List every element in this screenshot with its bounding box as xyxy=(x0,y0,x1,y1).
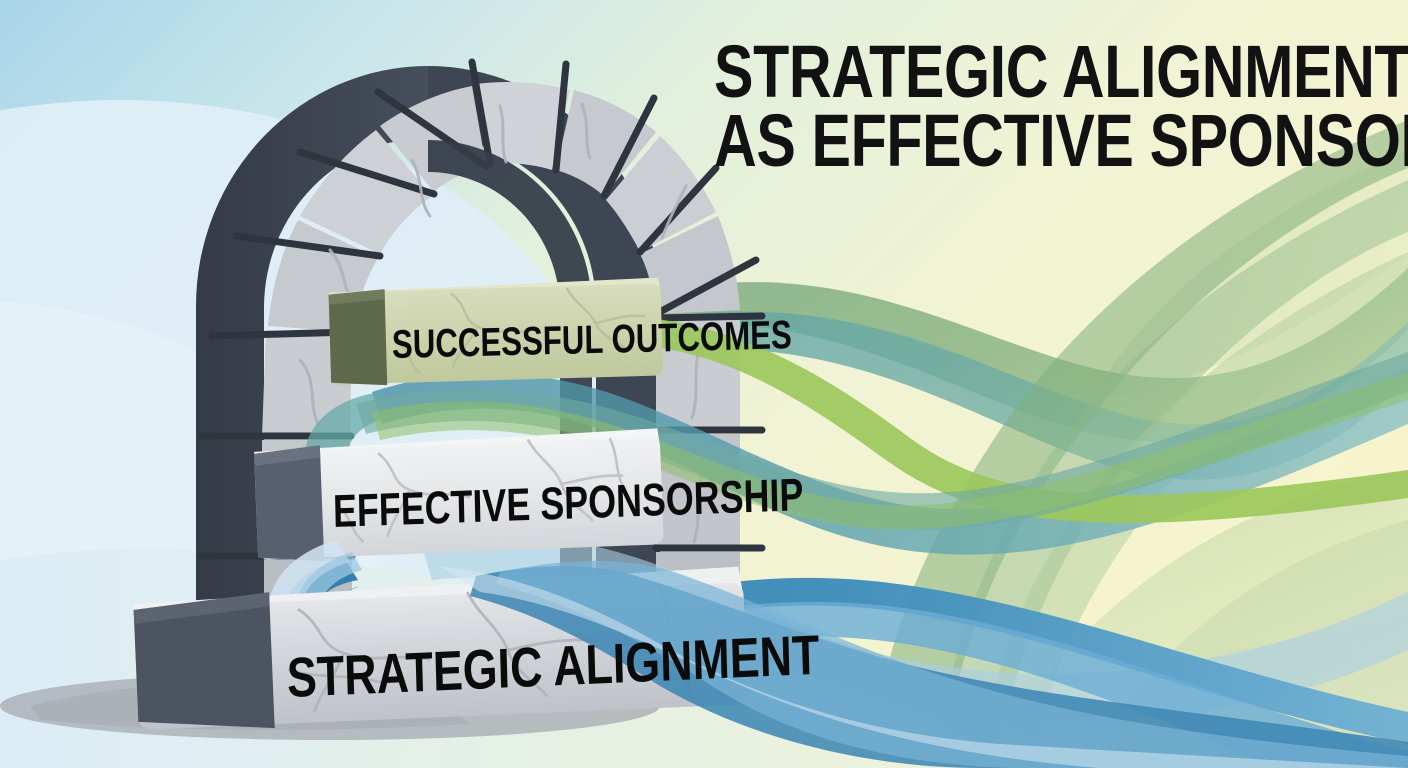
poster-canvas: STRATEGIC ALIGNMENT AS EFFECTIVE SPONSOR… xyxy=(0,0,1408,768)
ribbon-layer-front xyxy=(0,0,1408,768)
